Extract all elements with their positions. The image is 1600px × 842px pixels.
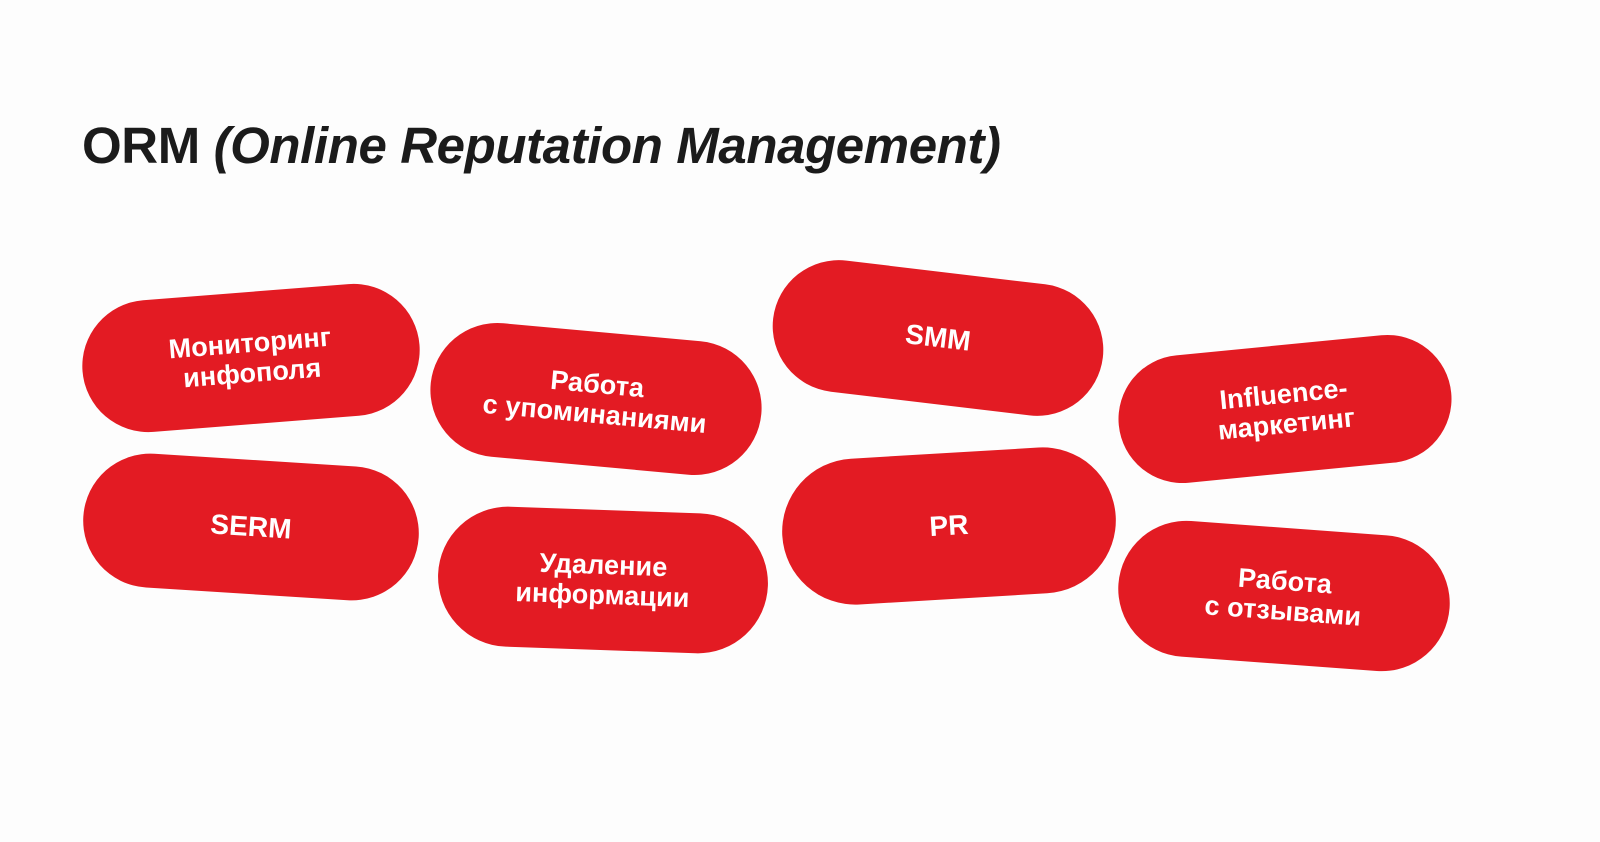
pill-mentions[interactable]: Работа с упоминаниями [425,317,768,481]
pill-serm[interactable]: SERM [79,450,423,605]
pill-label: SMM [785,304,1091,371]
title-expansion: (Online Reputation Management) [200,117,1001,174]
pill-smm[interactable]: SMM [765,253,1110,423]
pill-label: Influence- маркетинг [1130,364,1440,454]
pill-influence-marketing[interactable]: Influence- маркетинг [1113,329,1458,489]
pill-delete-information[interactable]: Удаление информации [436,504,771,655]
pill-monitoring[interactable]: Мониторинг инфополя [77,279,424,437]
pill-label: Работа с отзывами [1130,555,1438,638]
title-acronym: ORM [82,117,200,174]
pill-label: Работа с упоминаниями [442,355,750,443]
pill-reviews[interactable]: Работа с отзывами [1113,516,1454,676]
pill-label: Удаление информации [451,545,755,616]
pill-label: Мониторинг инфополя [94,316,408,401]
pill-pr[interactable]: PR [778,443,1120,609]
pill-label: SERM [96,502,405,553]
page-title: ORM (Online Reputation Management) [82,118,1001,174]
slide-canvas: ORM (Online Reputation Management) Монит… [0,0,1600,842]
pill-label: PR [795,501,1102,550]
